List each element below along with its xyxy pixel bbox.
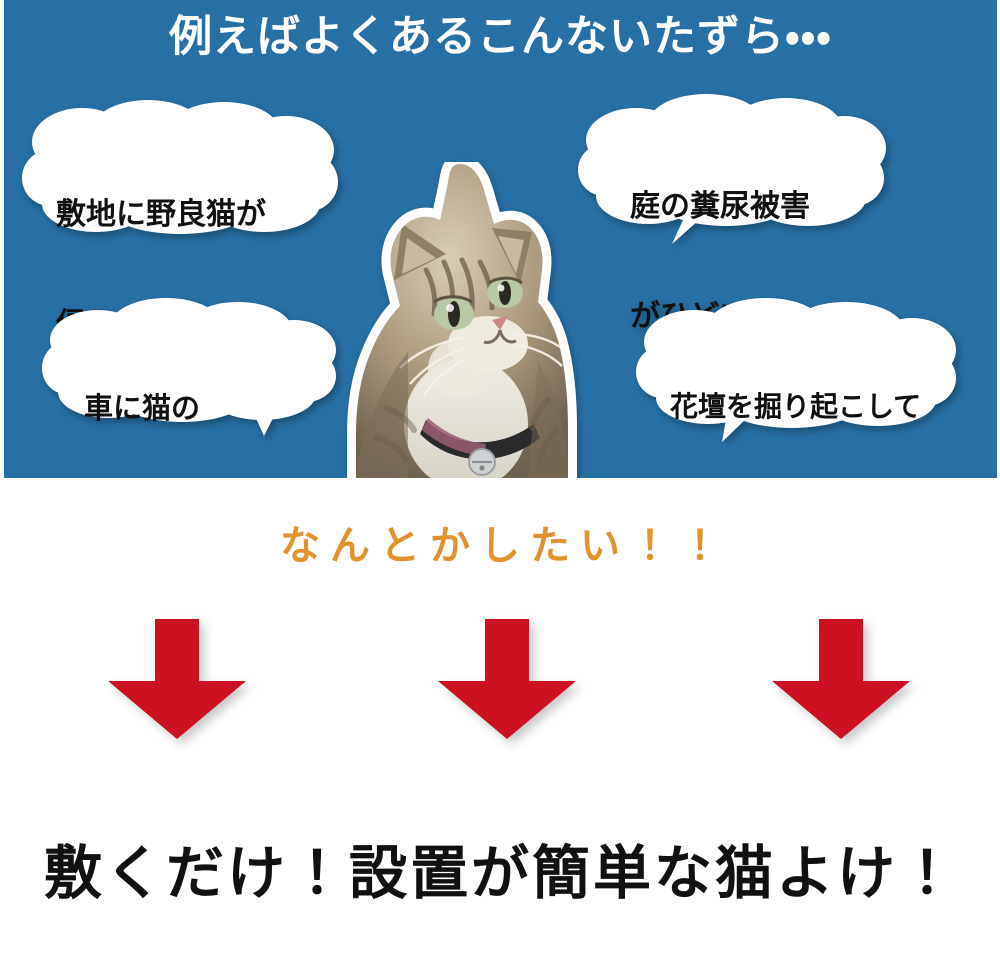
down-arrow-icon <box>438 619 576 739</box>
bubble-line: 庭の糞尿被害 <box>630 189 810 226</box>
bubble-line: 車に猫の <box>84 391 255 426</box>
speech-bubble-flowerbed-dug-up: 花壇を掘り起こして ぐちゃぐちゃ… <box>634 296 956 448</box>
hero-panel: 例えばよくあるこんないたずら・・・ <box>4 0 997 478</box>
footer-headline: 敷くだけ！設置が簡単な猫よけ！ <box>0 826 1000 910</box>
speech-bubble-stray-cat-intrusion: 敷地に野良猫が 侵入してくる！ <box>20 98 340 234</box>
down-arrow-icon <box>772 619 910 739</box>
hero-title: 例えばよくあるこんないたずら・・・ <box>4 14 997 61</box>
ad-banner-page: 例えばよくあるこんないたずら・・・ <box>0 0 1000 963</box>
speech-bubble-car-paw-prints: 車に猫の 足跡が・・・ <box>40 296 340 444</box>
cat-photo-cutout <box>342 162 582 478</box>
bubble-line: 花壇を掘り起こして <box>670 390 921 424</box>
bubble-line: 敷地に野良猫が <box>56 197 266 234</box>
want-solution-text: なんとかしたい！！ <box>0 513 1000 571</box>
speech-bubble-text: 花壇を掘り起こして ぐちゃぐちゃ… <box>670 322 921 478</box>
speech-bubble-text: 車に猫の 足跡が・・・ <box>84 320 255 478</box>
down-arrow-icon <box>108 619 246 739</box>
speech-bubble-garden-waste-damage: 庭の糞尿被害 がひどい… <box>576 92 886 252</box>
cat-cutout-halo <box>342 162 582 478</box>
